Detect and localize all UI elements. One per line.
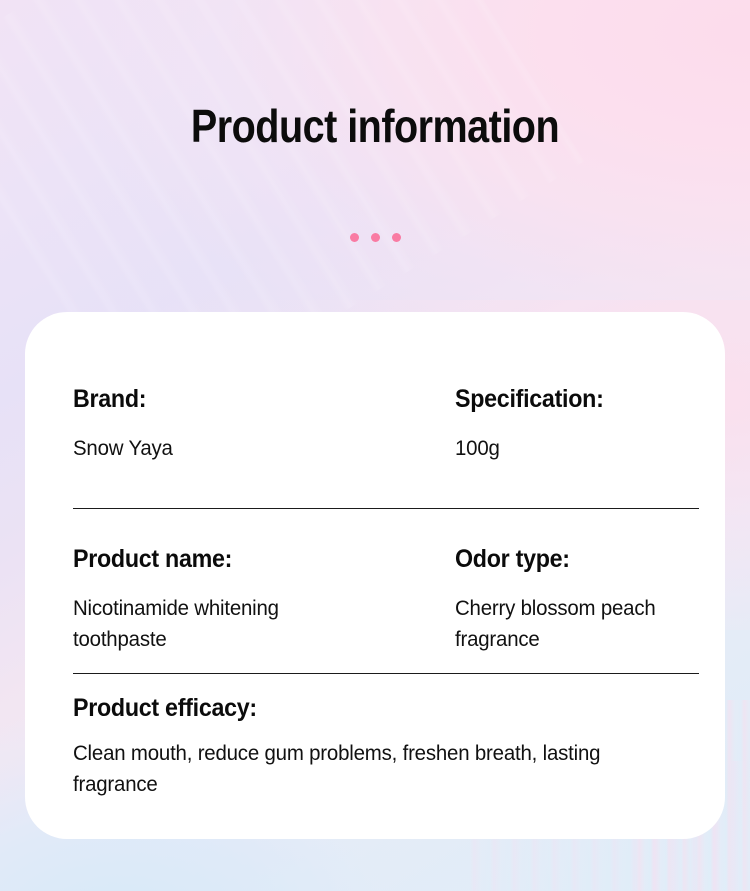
field-value-specification: 100g <box>455 433 690 464</box>
info-row-productname-odortype: Product name: Nicotinamide whitening too… <box>73 544 712 655</box>
row-divider-2 <box>73 673 699 674</box>
decorative-dots <box>0 233 750 242</box>
dot-icon-1 <box>350 233 359 242</box>
field-product-efficacy: Product efficacy: Clean mouth, reduce gu… <box>73 693 712 800</box>
field-value-brand: Snow Yaya <box>73 433 328 464</box>
field-label-product-name: Product name: <box>73 544 428 574</box>
field-label-brand: Brand: <box>73 384 428 414</box>
field-odor-type: Odor type: Cherry blossom peach fragranc… <box>455 544 712 655</box>
product-info-card: Brand: Snow Yaya Specification: 100g Pro… <box>25 312 725 839</box>
field-value-product-name: Nicotinamide whitening toothpaste <box>73 593 328 655</box>
field-label-product-efficacy: Product efficacy: <box>73 693 667 723</box>
info-row-brand-specification: Brand: Snow Yaya Specification: 100g <box>73 384 712 464</box>
product-information-page: Product information Brand: Snow Yaya Spe… <box>0 0 750 891</box>
row-divider-1 <box>73 508 699 509</box>
dot-icon-3 <box>392 233 401 242</box>
info-row-product-efficacy: Product efficacy: Clean mouth, reduce gu… <box>73 693 712 800</box>
page-header: Product information <box>0 0 750 312</box>
page-title: Product information <box>53 96 698 156</box>
dot-icon-2 <box>371 233 380 242</box>
field-product-name: Product name: Nicotinamide whitening too… <box>73 544 455 655</box>
field-value-odor-type: Cherry blossom peach fragrance <box>455 593 690 655</box>
field-label-specification: Specification: <box>455 384 685 414</box>
field-brand: Brand: Snow Yaya <box>73 384 455 464</box>
field-specification: Specification: 100g <box>455 384 712 464</box>
product-info-card-content: Brand: Snow Yaya Specification: 100g Pro… <box>73 312 712 839</box>
field-value-product-efficacy: Clean mouth, reduce gum problems, freshe… <box>73 738 680 800</box>
field-label-odor-type: Odor type: <box>455 544 685 574</box>
